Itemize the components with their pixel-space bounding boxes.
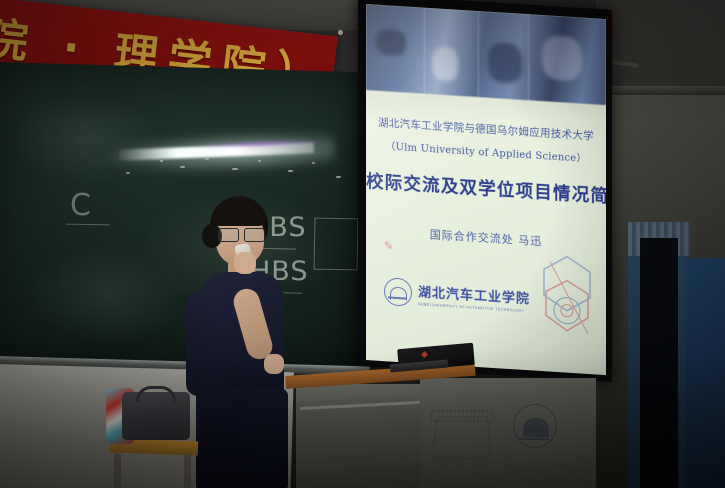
university-seal-icon [384,277,412,307]
glasses-icon [218,228,264,240]
trash-bin-icon [432,416,492,460]
lecture-room-photo: 院 · 理学院） C HBS HBS 湖北 [0,0,725,488]
doorway-opening[interactable] [640,238,678,488]
left-arm [186,292,210,396]
bag-handle [136,386,176,401]
ulm-hexagon-watermark [536,251,598,341]
right-hand [234,252,256,274]
slide-body: 湖北汽车工业学院与德国乌尔姆应用技术大学 （Ulm University of … [366,90,606,375]
projection-screen: 湖北汽车工业学院与德国乌尔姆应用技术大学 （Ulm University of … [366,4,606,375]
slide-title: 校际交流及双学位项目情况简介 [366,168,606,208]
slide-presenter: 国际合作交流处 马迅 [366,222,606,253]
slide-photo-strip [366,4,606,105]
left-hand [264,354,284,374]
blue-door-panel[interactable] [686,258,725,488]
slide-university-logo: 湖北汽车工业学院 HUBEI UNIVERSITY OF AUTOMOTIVE … [384,277,530,314]
skirt [196,388,288,488]
lectern-university-emblem-icon [513,404,557,448]
slide-pink-mark: ✎ [384,239,400,252]
hair-fringe [212,206,266,226]
chalk-square [314,218,359,271]
wall-ledge [596,86,725,95]
